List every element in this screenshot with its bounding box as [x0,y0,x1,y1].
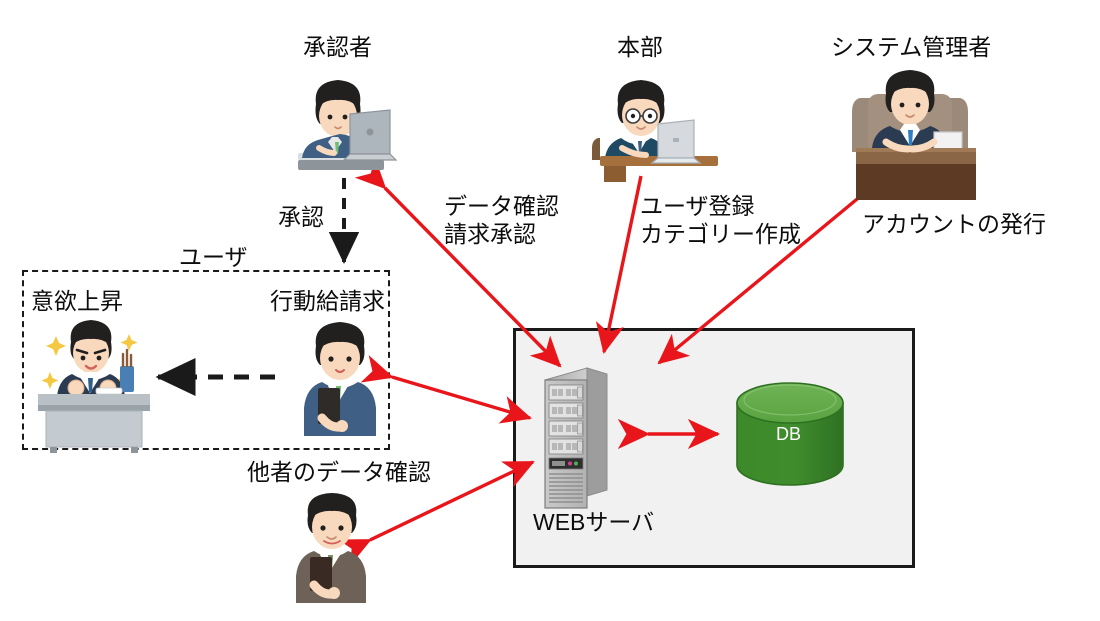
label-claim: 行動給請求 [270,287,385,315]
label-data-check-claim-approval: データ確認 請求承認 [444,192,559,248]
label-user-register-category: ユーザ登録 カテゴリー作成 [640,192,801,248]
label-account-issue: アカウントの発行 [862,210,1046,238]
label-other-data-check: 他者のデータ確認 [247,458,431,486]
label-sysadmin: システム管理者 [831,33,991,61]
figure-headquarters [592,80,718,182]
label-user-group: ユーザ [179,243,248,271]
figure-approver [298,80,396,170]
label-approver: 承認者 [303,33,372,61]
diagram-canvas: 承認者 本部 システム管理者 承認 ユーザ 意欲上昇 行動給請求 データ確認 請… [0,0,1100,621]
figure-other-viewer [296,493,366,603]
label-approval-edge: 承認 [278,203,324,231]
label-db: DB [776,424,801,446]
label-headquarters: 本部 [617,33,663,61]
label-web-server: WEBサーバ [533,508,654,536]
label-motivation: 意欲上昇 [31,287,123,315]
arrow-user-server [392,377,530,418]
figure-sysadmin [852,70,976,200]
arrow-user-register-category [604,176,641,352]
